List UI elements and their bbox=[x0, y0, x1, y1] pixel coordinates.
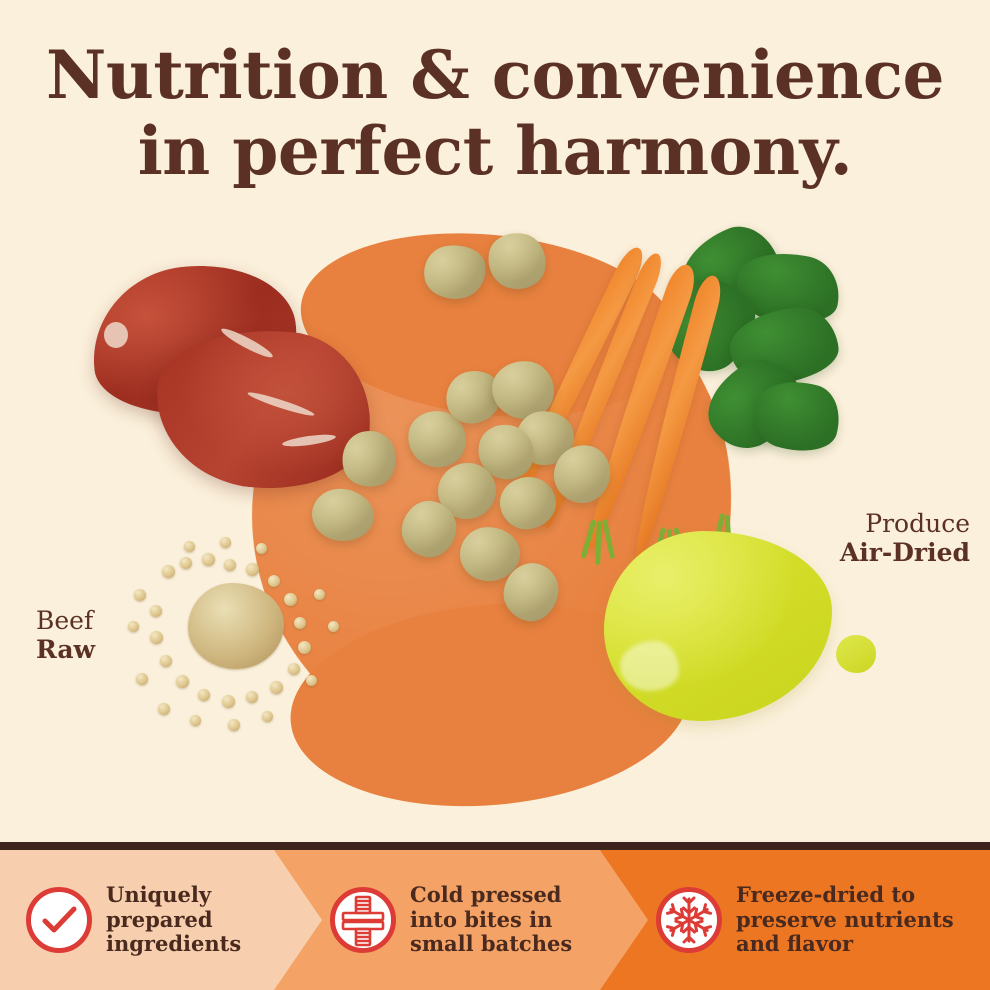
label-produce-qualifier: Air-Dried bbox=[700, 539, 970, 568]
sorghum-grain bbox=[246, 563, 259, 576]
sorghum-grain bbox=[298, 641, 311, 654]
infographic-root: Nutrition & convenience in perfect harmo… bbox=[0, 0, 990, 990]
label-beef: Beef Raw bbox=[36, 607, 95, 664]
feature-banner: Uniquely prepared ingredients bbox=[0, 842, 990, 990]
snowflake-icon bbox=[656, 887, 722, 953]
title-line-2: in perfect harmony. bbox=[0, 120, 990, 182]
cold-press-icon bbox=[330, 887, 396, 953]
sorghum-grain bbox=[184, 541, 195, 552]
sorghum-grain bbox=[270, 681, 283, 694]
sorghum-grain bbox=[158, 703, 170, 715]
feature-text-uniquely-prepared: Uniquely prepared ingredients bbox=[106, 883, 241, 956]
sorghum-grain bbox=[294, 617, 306, 629]
checkmark-circle-icon bbox=[26, 887, 92, 953]
sorghum-grain bbox=[160, 655, 172, 667]
sorghum-grain bbox=[256, 543, 267, 554]
sorghum-grain bbox=[246, 691, 258, 703]
sorghum-grain bbox=[134, 589, 146, 601]
title-line-1: Nutrition & convenience bbox=[0, 44, 990, 106]
sorghum-grain bbox=[262, 711, 273, 722]
label-produce: Produce Air-Dried bbox=[700, 510, 970, 567]
sorghum-grain bbox=[306, 675, 317, 686]
feature-text-freeze-dried: Freeze-dried to preserve nutrients and f… bbox=[736, 883, 954, 956]
banner-divider bbox=[0, 842, 990, 850]
sorghum-grain bbox=[190, 715, 201, 726]
sorghum-grain bbox=[150, 631, 163, 644]
sorghum-grain bbox=[228, 719, 240, 731]
beef-fat-cap bbox=[104, 322, 128, 348]
feature-text-cold-pressed: Cold pressed into bites in small batches bbox=[410, 883, 572, 956]
carrot-greens bbox=[595, 521, 602, 565]
sorghum-grain bbox=[328, 621, 339, 632]
sorghum-grain bbox=[136, 673, 148, 685]
sorghum-grain bbox=[222, 695, 235, 708]
sorghum-pile-core bbox=[188, 583, 284, 669]
sorghum-grain bbox=[128, 621, 139, 632]
label-produce-name: Produce bbox=[700, 510, 970, 539]
carrot-greens bbox=[602, 519, 615, 559]
ingredient-hero: Beef Raw Produce Air-Dried Sorghum Steam… bbox=[0, 205, 990, 837]
olive-oil-droplet bbox=[836, 635, 876, 673]
sorghum-grain bbox=[180, 557, 192, 569]
sorghum-grain bbox=[176, 675, 189, 688]
sorghum-grain bbox=[284, 593, 297, 606]
sorghum-grain-image bbox=[128, 535, 368, 745]
sorghum-grain bbox=[224, 559, 236, 571]
sorghum-grain bbox=[288, 663, 300, 675]
page-title: Nutrition & convenience in perfect harmo… bbox=[0, 44, 990, 182]
sorghum-grain bbox=[268, 575, 280, 587]
label-beef-qualifier: Raw bbox=[36, 636, 95, 665]
sorghum-grain bbox=[150, 605, 162, 617]
sorghum-grain bbox=[314, 589, 325, 600]
label-beef-name: Beef bbox=[36, 607, 95, 636]
sorghum-grain bbox=[162, 565, 175, 578]
sorghum-grain bbox=[220, 537, 231, 548]
raw-beef-image bbox=[86, 260, 366, 490]
sorghum-grain bbox=[202, 553, 215, 566]
sorghum-grain bbox=[198, 689, 210, 701]
